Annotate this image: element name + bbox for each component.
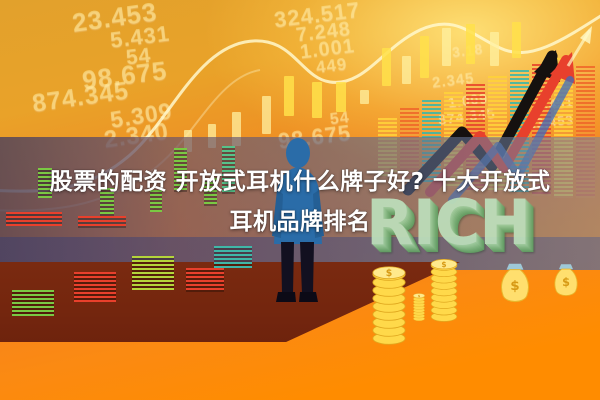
stock-article-banner: 23.4535.4315498.675874.3455.3092.340324.… — [0, 0, 600, 400]
svg-text:$: $ — [510, 278, 519, 294]
coin-stack-icon: $ — [372, 262, 406, 348]
svg-text:$: $ — [386, 268, 393, 279]
svg-text:$: $ — [441, 260, 446, 269]
money-bag-icon: $ — [498, 262, 532, 306]
headline-line-2: 耳机品牌排名 — [0, 202, 600, 242]
money-bag-icon: $ — [552, 262, 580, 300]
headline-line-1: 股票的配资 开放式耳机什么牌子好? 十大开放式 — [0, 162, 600, 202]
svg-text:$: $ — [562, 276, 570, 289]
coin-stack-icon: $ — [406, 292, 432, 322]
coin-stack-icon: $ — [428, 256, 460, 324]
page-title: 股票的配资 开放式耳机什么牌子好? 十大开放式 耳机品牌排名 — [0, 162, 600, 242]
